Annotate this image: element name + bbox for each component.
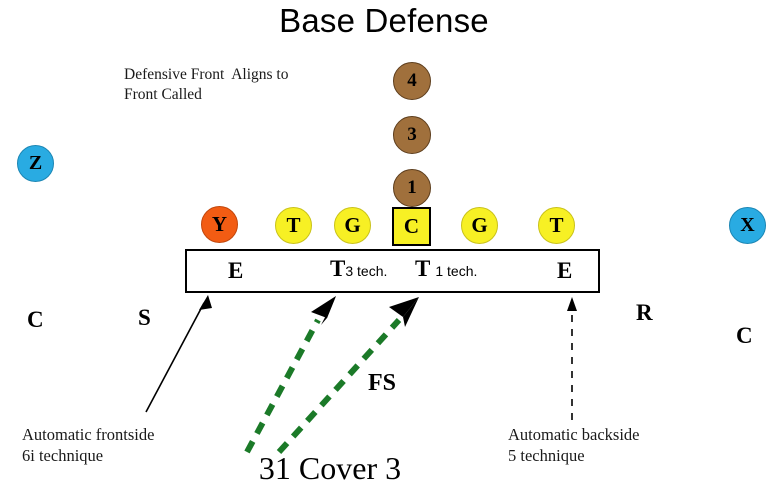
receiver-token-z[interactable]: Z (17, 145, 54, 182)
secondary-corner-left[interactable]: C (27, 307, 44, 333)
secondary-strong-safety[interactable]: S (138, 305, 151, 331)
blitz-arrow-right (279, 297, 419, 452)
offensive-line-token-y[interactable]: Y (201, 206, 238, 243)
defensive-line-label: E (228, 258, 243, 283)
defensive-line-label: E (557, 258, 572, 283)
defensive-line-tackle-3tech[interactable]: T 3 tech. (330, 257, 387, 280)
offensive-line-label: C (404, 214, 419, 239)
defensive-line-label: T (415, 257, 430, 280)
offensive-line-token-guard-left[interactable]: G (334, 207, 371, 244)
defensive-line-box (185, 249, 600, 293)
linebacker-token-4[interactable]: 4 (393, 62, 431, 100)
secondary-label: C (736, 323, 753, 348)
secondary-label: S (138, 305, 151, 330)
offensive-line-token-tackle-left[interactable]: T (275, 207, 312, 244)
front-alignment-note: Defensive Front Aligns to Front Called (124, 65, 288, 105)
arrows-overlay (0, 0, 768, 493)
defensive-line-end-left[interactable]: E (228, 259, 243, 282)
page-title: Base Defense (0, 2, 768, 40)
defensive-line-label: T (330, 257, 345, 280)
receiver-label: Z (29, 152, 42, 175)
secondary-label: C (27, 307, 44, 332)
coverage-call-label: 31 Cover 3 (0, 450, 660, 487)
receiver-label: X (740, 214, 754, 237)
defensive-line-tackle-1tech[interactable]: T 1 tech. (415, 257, 477, 280)
receiver-token-x[interactable]: X (729, 207, 766, 244)
linebacker-token-3[interactable]: 3 (393, 116, 431, 154)
linebacker-token-1[interactable]: 1 (393, 169, 431, 207)
secondary-free-safety[interactable]: FS (368, 370, 396, 397)
secondary-corner-right[interactable]: C (736, 323, 753, 349)
defensive-line-end-right[interactable]: E (557, 259, 572, 282)
offensive-line-token-tackle-right[interactable]: T (538, 207, 575, 244)
defensive-line-technique: 1 tech. (430, 263, 477, 279)
offensive-line-token-center[interactable]: C (392, 207, 431, 246)
offensive-line-label: G (344, 213, 360, 238)
frontside-pointer-arrow (146, 295, 212, 412)
secondary-label: R (636, 300, 653, 325)
linebacker-label: 1 (407, 177, 417, 199)
backside-pointer-arrow (567, 297, 577, 420)
offensive-line-token-guard-right[interactable]: G (461, 207, 498, 244)
offensive-line-label: G (471, 213, 487, 238)
secondary-label: FS (368, 370, 396, 396)
offensive-line-label: Y (212, 212, 227, 237)
linebacker-label: 4 (407, 70, 417, 92)
secondary-rover[interactable]: R (636, 300, 653, 326)
linebacker-label: 3 (407, 124, 417, 146)
defensive-line-technique: 3 tech. (345, 263, 387, 279)
play-diagram-canvas: Base Defense Defensive Front Aligns to F… (0, 0, 768, 493)
offensive-line-label: T (549, 213, 563, 238)
blitz-arrow-left (247, 296, 336, 452)
offensive-line-label: T (286, 213, 300, 238)
